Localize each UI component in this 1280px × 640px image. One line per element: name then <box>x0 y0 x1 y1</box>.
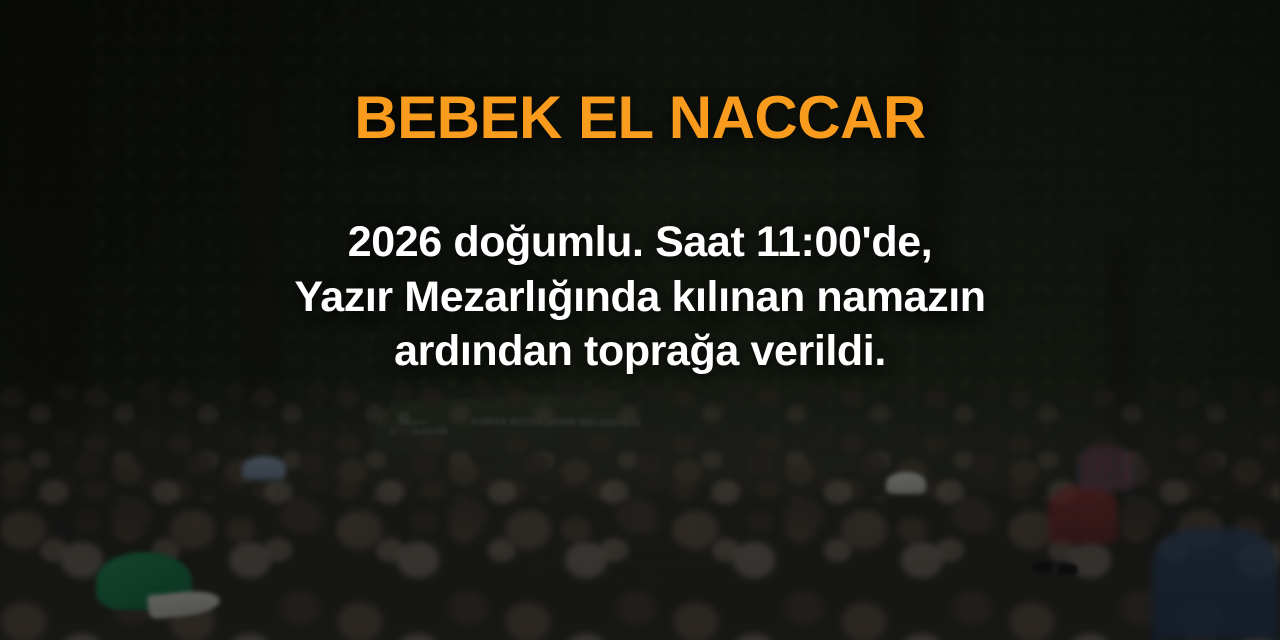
page-title: BEBEK EL NACCAR <box>0 0 1280 148</box>
obituary-details: 2026 doğumlu. Saat 11:00'de, Yazır Mezar… <box>0 148 1280 379</box>
detail-line-2: Yazır Mezarlığında kılınan namazın <box>0 270 1280 325</box>
detail-line-3: ardından toprağa verildi. <box>0 324 1280 379</box>
detail-line-1: 2026 doğumlu. Saat 11:00'de, <box>0 215 1280 270</box>
obituary-card: KONYA BÜYÜKŞEHİR KONYA BÜYÜKŞEHİR BELEDİ… <box>0 0 1280 640</box>
text-overlay: BEBEK EL NACCAR 2026 doğumlu. Saat 11:00… <box>0 0 1280 379</box>
